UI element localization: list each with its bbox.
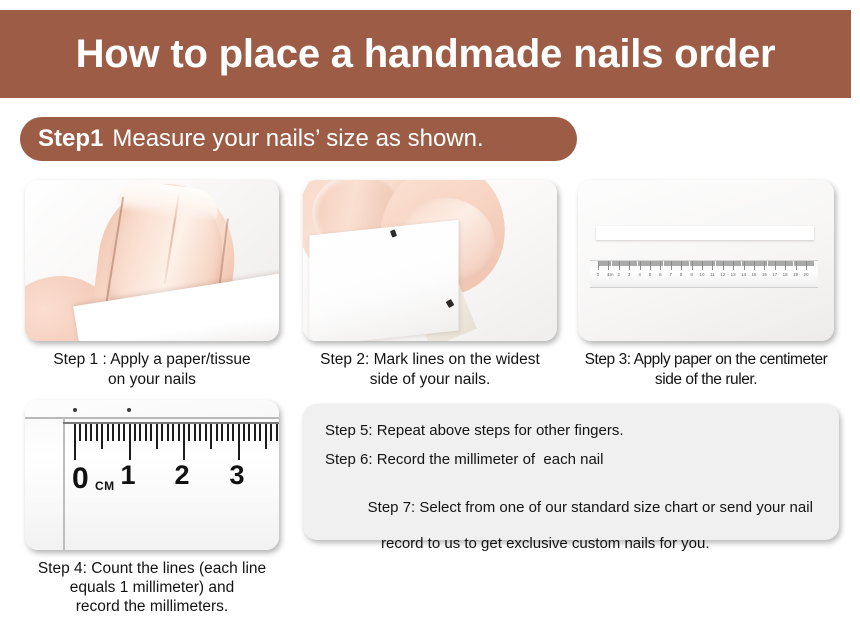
caption-step-3-line-1: Step 3: Apply paper on the centimeter: [571, 350, 841, 370]
step1-badge: Step1 Measure your nails’ size as shown.: [20, 117, 577, 161]
caption-step-2: Step 2: Mark lines on the widest side of…: [296, 350, 564, 390]
ruler-small-number: 7: [670, 272, 673, 277]
caption-step-2-line-1: Step 2: Mark lines on the widest: [296, 350, 564, 370]
caption-step-3: Step 3: Apply paper on the centimeter si…: [571, 350, 841, 390]
ruler-small-number: 11: [710, 272, 715, 277]
caption-step-1-line-1: Step 1 : Apply a paper/tissue: [18, 350, 286, 370]
ruler-small-number: 3: [628, 272, 631, 277]
ruler-unit-label: CM: [95, 479, 115, 493]
ruler-top-dot: [127, 408, 131, 412]
ruler-small-number: 5: [649, 272, 652, 277]
step-5-line: Step 5: Repeat above steps for other fin…: [325, 422, 817, 440]
ruler-small-number: 13: [731, 272, 736, 277]
fingers-marking-paper-photo: [303, 180, 557, 341]
ruler-small-number: 12: [720, 272, 725, 277]
paper-strip-on-ruler-photo: 01234567891011121314151617181920cm: [578, 180, 834, 341]
caption-step-1-line-2: on your nails: [18, 370, 286, 390]
step-7-line-2: record to us to get exclusive custom nai…: [351, 535, 817, 553]
paper-strip-shape: [309, 220, 458, 341]
caption-step-3-line-2: side of the ruler.: [571, 370, 841, 390]
ruler-small-number: 6: [659, 272, 662, 277]
ruler-number-1: 1: [120, 462, 135, 489]
ruler-small-number: 10: [699, 272, 704, 277]
photo-panel-apply-on-ruler: 01234567891011121314151617181920cm: [578, 180, 834, 341]
ruler-small-number: 14: [741, 272, 746, 277]
page-header-bar: How to place a handmade nails order: [0, 10, 851, 98]
ruler-small-number: 18: [783, 272, 788, 277]
photo-panel-count-lines: 0 CM 1 2 3: [25, 400, 279, 550]
ruler-small-number: 2: [618, 272, 621, 277]
caption-step-4-line-2: equals 1 millimeter) and: [14, 579, 290, 598]
step1-badge-number: Step1: [38, 125, 103, 153]
caption-step-4-line-1: Step 4: Count the lines (each line: [14, 560, 290, 579]
ruler-zero-vertical-line: [63, 418, 65, 550]
ruler-small-number: 9: [690, 272, 693, 277]
ruler-small-number: 15: [751, 272, 756, 277]
ruler-shape: 01234567891011121314151617181920cm: [590, 260, 818, 288]
finger-with-paper-strip-photo: [25, 180, 279, 341]
ruler-small-number: 4: [638, 272, 641, 277]
ruler-small-number: 0: [597, 272, 600, 277]
paper-strip-shape: [596, 226, 814, 240]
ruler-number-labels: 01234567891011121314151617181920cm: [590, 272, 818, 282]
ruler-closeup-photo: 0 CM 1 2 3: [25, 400, 279, 550]
ruler-number-3: 3: [229, 462, 244, 489]
caption-step-2-line-2: side of your nails.: [296, 370, 564, 390]
step-6-line: Step 6: Record the millimeter of each na…: [325, 451, 817, 469]
caption-step-4-line-3: record the millimeters.: [14, 598, 290, 617]
ruler-small-number: 20: [803, 272, 808, 277]
photo-panel-mark-lines: [303, 180, 557, 341]
ruler-small-number: 8: [680, 272, 683, 277]
step-7-line: Step 7: Select from one of our standard …: [325, 481, 817, 591]
steps-5-to-7-box: Step 5: Repeat above steps for other fin…: [303, 404, 839, 540]
ruler-small-number: 19: [793, 272, 798, 277]
ruler-small-number: 17: [772, 272, 777, 277]
caption-step-4: Step 4: Count the lines (each line equal…: [14, 560, 290, 617]
ruler-number-2: 2: [174, 462, 189, 489]
page-title: How to place a handmade nails order: [76, 32, 776, 77]
ruler-small-unit-label: cm: [607, 272, 613, 277]
ruler-top-dot: [73, 408, 77, 412]
ruler-small-number: 16: [762, 272, 767, 277]
ruler-tick-marks: [590, 261, 818, 270]
step-7-line-1: Step 7: Select from one of our standard …: [368, 499, 813, 516]
photo-panel-apply-paper: [25, 180, 279, 341]
ruler-zero-label: 0: [72, 464, 89, 494]
caption-step-1: Step 1 : Apply a paper/tissue on your na…: [18, 350, 286, 390]
step1-badge-text: Measure your nails’ size as shown.: [112, 125, 483, 153]
